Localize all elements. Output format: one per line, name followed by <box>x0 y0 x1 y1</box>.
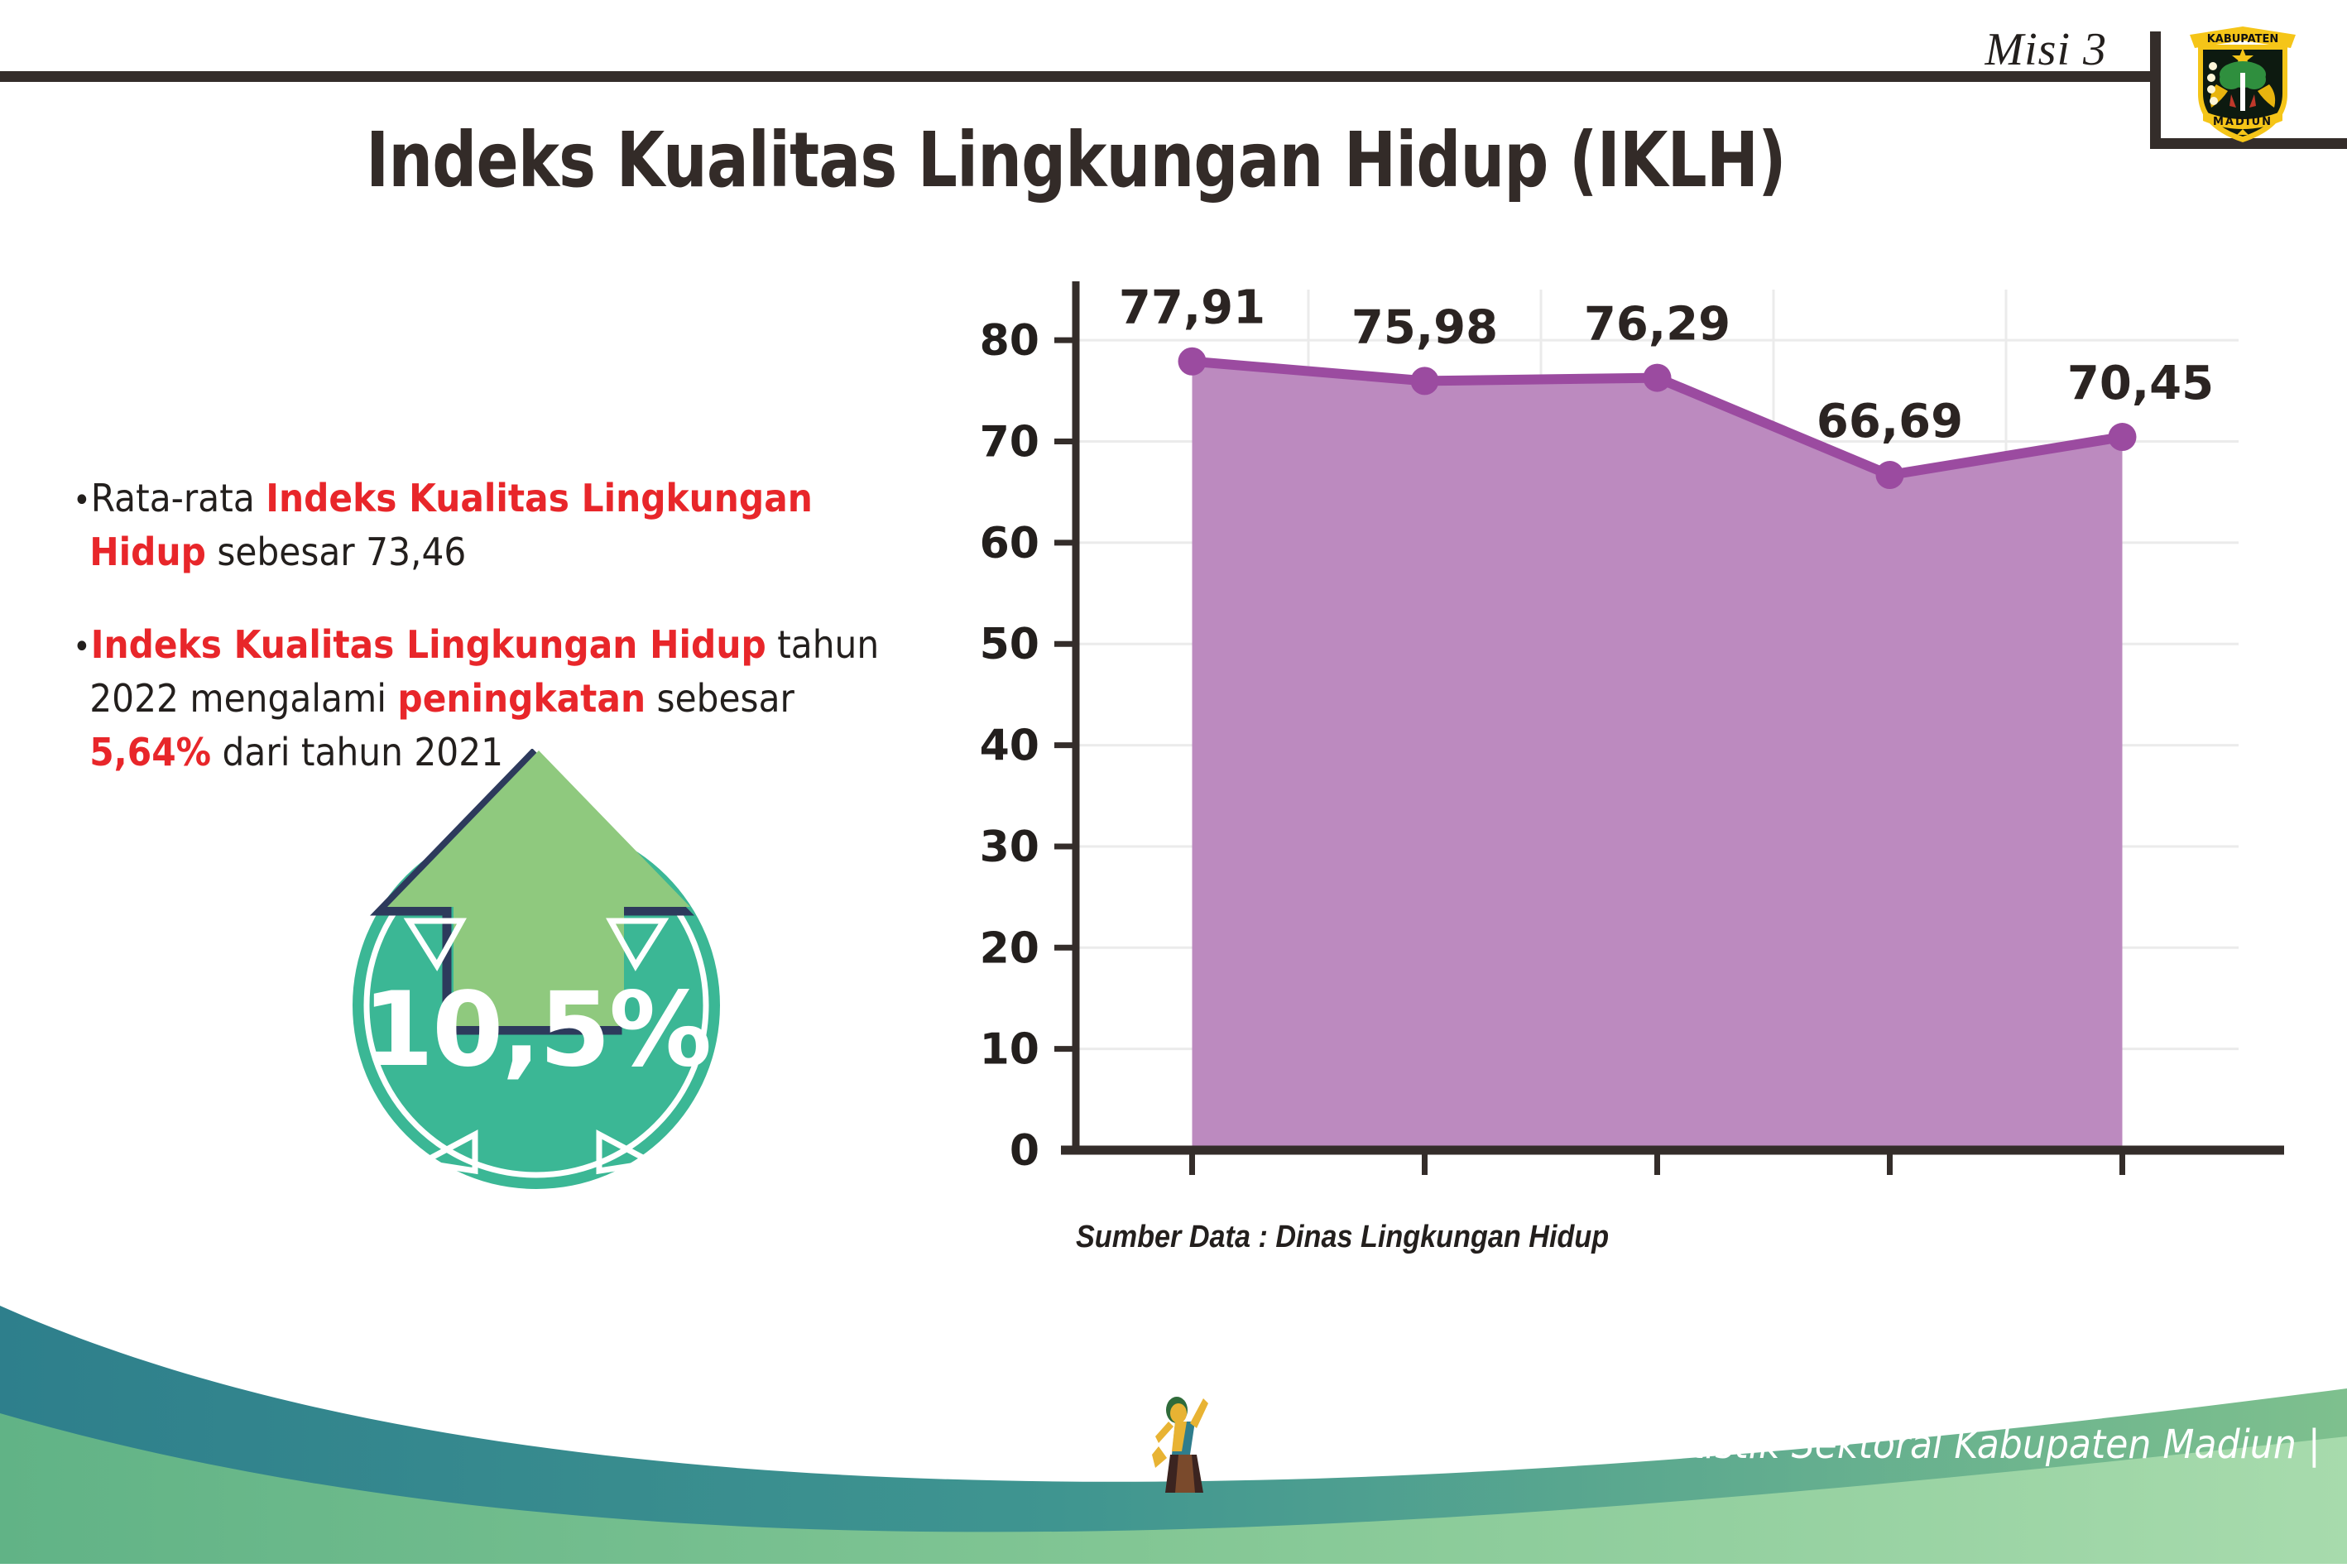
x-axis-tick-label: 2021 <box>1818 1192 1961 1200</box>
y-axis-tick-label: 30 <box>980 822 1039 872</box>
y-axis-tick-label: 20 <box>980 923 1039 973</box>
iklh-area-chart: 010203040506070802018201920202021202277,… <box>960 273 2284 1200</box>
bullet-dot: • <box>73 482 91 520</box>
x-axis-tick-label: 2020 <box>1586 1192 1729 1200</box>
data-point-marker <box>1644 364 1672 392</box>
bullet-1-text-a: Rata-rata <box>91 476 266 520</box>
kabupaten-madiun-crest-logo: KABUPATEN MADIUN <box>2180 15 2306 147</box>
x-axis-tick-label: 2022 <box>2051 1192 2194 1200</box>
header-bracket-vertical <box>2150 31 2161 149</box>
data-point-label: 77,91 <box>1119 281 1265 335</box>
bullet-2-highlight-a: Indeks Kualitas Lingkungan Hidup <box>91 622 766 667</box>
chart-source-note: Sumber Data : Dinas Lingkungan Hidup <box>1076 1220 1609 1255</box>
y-axis-tick-label: 40 <box>980 722 1039 771</box>
svg-text:MADIUN: MADIUN <box>2213 116 2273 128</box>
y-axis-tick-label: 60 <box>980 519 1039 568</box>
data-point-marker <box>1411 367 1439 395</box>
increase-badge: 10,5% <box>329 749 743 1196</box>
y-axis-tick-label: 10 <box>980 1025 1039 1075</box>
x-axis-tick-label: 2018 <box>1121 1192 1264 1200</box>
footer-banner: Media Infografis Data Statistik Sektoral… <box>0 1291 2347 1564</box>
y-axis-tick-label: 0 <box>1010 1126 1039 1176</box>
y-axis-tick-label: 70 <box>980 418 1039 468</box>
footer-caption: Media Infografis Data Statistik Sektoral… <box>1226 1422 2321 1468</box>
page-title: Indeks Kualitas Lingkungan Hidup (IKLH) <box>194 116 1958 204</box>
y-axis-tick-label: 50 <box>980 620 1039 669</box>
data-point-label: 75,98 <box>1351 300 1498 354</box>
data-point-label: 66,69 <box>1817 395 1963 448</box>
data-point-marker <box>2109 423 2137 451</box>
data-point-label: 76,29 <box>1584 298 1730 352</box>
data-point-marker <box>1876 461 1904 489</box>
list-item: •Rata-rata Indeks Kualitas Lingkungan Hi… <box>73 472 925 580</box>
y-axis-tick-label: 80 <box>980 316 1039 366</box>
bullet-2-highlight-b: peningkatan <box>397 676 646 721</box>
header-divider-line <box>0 71 2161 82</box>
bullet-dot: • <box>73 628 91 666</box>
data-point-label: 70,45 <box>2067 357 2214 410</box>
bullet-2-text-b: sebesar <box>646 676 794 721</box>
data-point-marker <box>1178 348 1207 376</box>
statistik-figure-icon <box>1150 1392 1221 1496</box>
series-area-fill <box>1193 362 2123 1150</box>
x-axis-tick-label: 2019 <box>1353 1192 1496 1200</box>
bullet-2-highlight-c: 5,64% <box>89 730 211 774</box>
bullet-1-text-b: sebesar 73,46 <box>206 530 466 574</box>
svg-text:KABUPATEN: KABUPATEN <box>2207 33 2279 46</box>
mission-label: Misi 3 <box>1985 23 2107 76</box>
badge-percent-value: 10,5% <box>329 971 743 1090</box>
